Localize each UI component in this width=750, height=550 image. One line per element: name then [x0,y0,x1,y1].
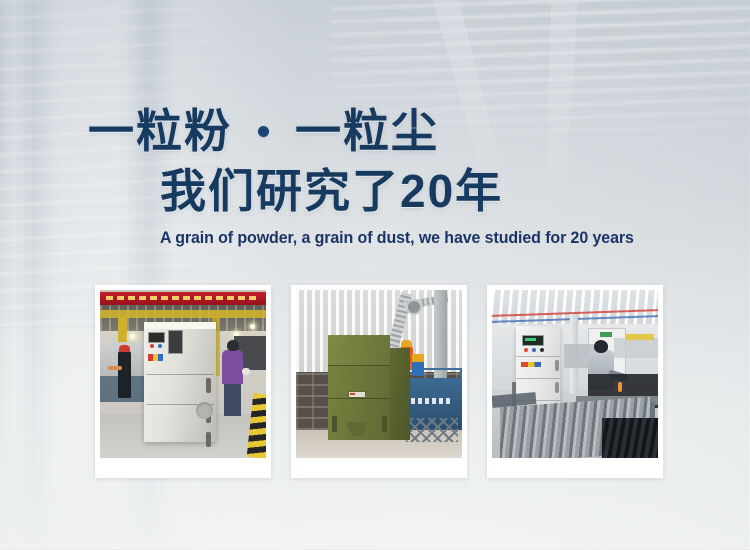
photo-dust-collector-white-workshop [492,290,658,458]
dot-separator-icon [258,126,269,137]
headline-line-2: 我们研究了20年 [160,168,503,214]
banner-stage: 一粒粉 一粒尘 我们研究了20年 A grain of powder, a gr… [0,0,750,550]
headline-line-1-part-2: 一粒尘 [295,108,439,154]
headline-line-1: 一粒粉 一粒尘 [88,108,439,154]
photo-frame-3[interactable] [487,285,663,478]
photo-frame-1[interactable] [95,285,271,478]
banner-subtitle: A grain of powder, a grain of dust, we h… [160,228,574,248]
photo-dust-collector-grey-factory [100,290,266,458]
photo-dust-collector-green-workshop [296,290,462,458]
photo-gallery [95,285,663,478]
headline-line-1-part-1: 一粒粉 [88,108,232,154]
photo-frame-2[interactable] [291,285,467,478]
